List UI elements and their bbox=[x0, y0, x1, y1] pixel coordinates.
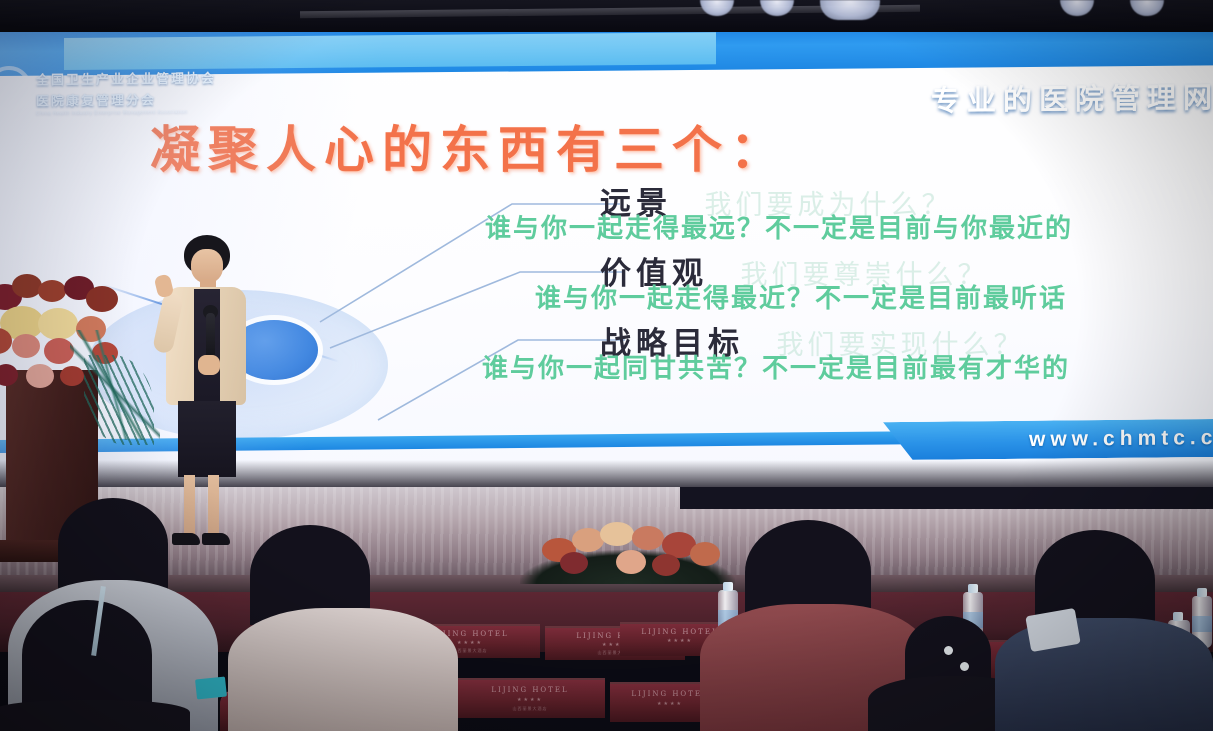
speaker-skirt bbox=[178, 401, 236, 477]
stage-floral-arrangement bbox=[520, 522, 735, 584]
attendee-head bbox=[58, 498, 168, 590]
slide-row-strategic-goal: 战略目标 我们要实现什么？ 谁与你一起同甘共苦？不一定是目前最有才华的 bbox=[600, 318, 1024, 363]
speaker-shoe bbox=[172, 533, 200, 545]
slide-row-values: 价值观 我们要尊崇什么？ 谁与你一起走得最近？不一定是目前最听话 bbox=[600, 248, 988, 293]
hall-back-wall bbox=[680, 487, 1213, 509]
chair-stars: ★★★★ bbox=[455, 697, 605, 703]
speaker-leg bbox=[208, 475, 219, 537]
name-badge bbox=[195, 676, 227, 699]
speaker-face bbox=[191, 249, 223, 283]
conference-hall-photo: 全国卫生产业企业管理协会 医院康复管理分会 China Health Indus… bbox=[0, 0, 1213, 731]
chair-brand: LIJING HOTEL bbox=[455, 686, 605, 694]
row-subtitle: 谁与你一起走得最远？不一定是目前与你最近的 bbox=[485, 208, 1073, 245]
slide-row-vision: 远景 我们要成为什么？ 谁与你一起走得最远？不一定是目前与你最近的 bbox=[600, 178, 952, 223]
chair-subtext: 山西丽景大酒店 bbox=[455, 706, 605, 712]
speaker-shoe bbox=[202, 533, 230, 545]
attendee-head bbox=[22, 600, 152, 710]
chair-back: LIJING HOTEL ★★★★ 山西丽景大酒店 bbox=[455, 678, 605, 718]
speaker bbox=[150, 235, 260, 540]
speaker-leg bbox=[184, 475, 195, 537]
ceiling bbox=[0, 0, 1213, 34]
slide-title: 凝聚人心的东西有三个： bbox=[150, 110, 788, 182]
hair-clip-icon bbox=[960, 662, 969, 671]
slide-header-right-banner: 专业的医院管理网 bbox=[931, 74, 1213, 120]
slide-header-band-light bbox=[64, 32, 716, 70]
row-subtitle: 谁与你一起同甘共苦？不一定是目前最有才华的 bbox=[482, 348, 1070, 385]
attendee-body bbox=[0, 700, 190, 731]
row-subtitle: 谁与你一起走得最近？不一定是目前最听话 bbox=[535, 278, 1067, 315]
speaker-mic-hand bbox=[198, 355, 220, 375]
ceiling-light bbox=[820, 0, 880, 20]
association-line-2: 医院康复管理分会 bbox=[36, 88, 316, 110]
association-line-1: 全国卫生产业企业管理协会 bbox=[36, 67, 316, 89]
attendee-body bbox=[228, 608, 458, 731]
hair-clip-icon bbox=[944, 646, 953, 655]
association-name: 全国卫生产业企业管理协会 医院康复管理分会 China Health Indus… bbox=[36, 67, 316, 117]
